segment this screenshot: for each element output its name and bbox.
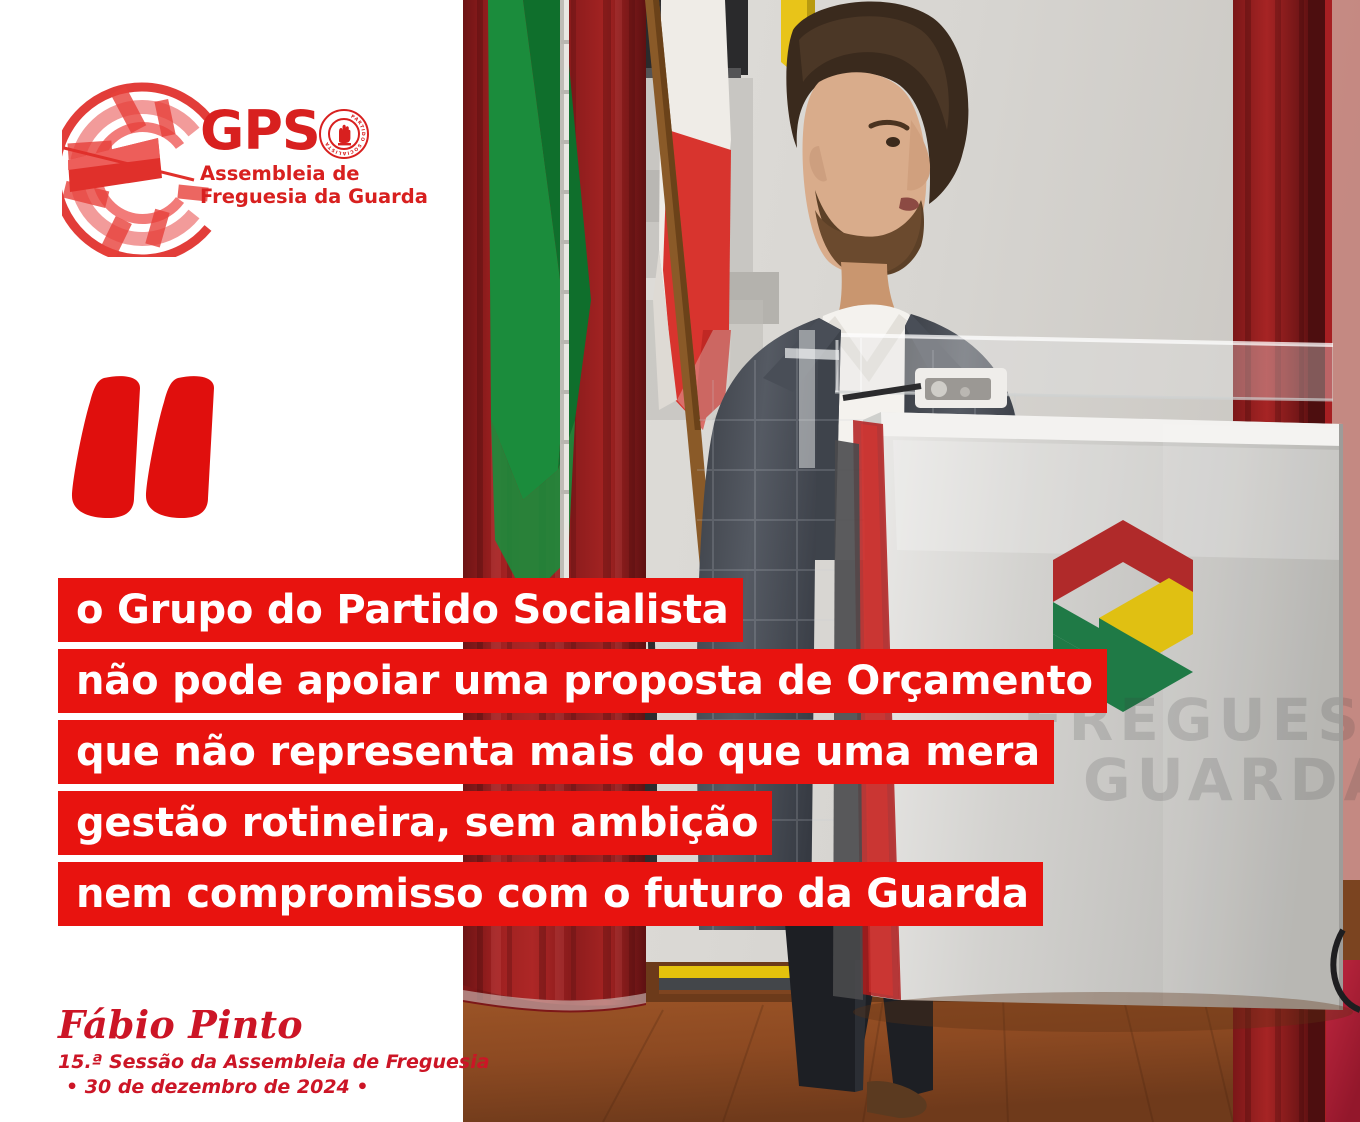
quote-line-1: o Grupo do Partido Socialista (58, 578, 743, 642)
speaker-photo: FREGUESIA GUARDA (463, 0, 1360, 1122)
gps-subtitle-line2: Freguesia da Guarda (200, 186, 385, 208)
session-label: 15.ª Sessão da Assembleia de Freguesia (58, 1050, 490, 1075)
gps-acronym: GPS (200, 104, 320, 158)
gps-logo: GPS PARTIDO SOCIALISTA Assemb (62, 82, 372, 257)
quote-line-4: gestão rotineira, sem ambição (58, 791, 772, 855)
session-date: • 30 de dezembro de 2024 • (58, 1075, 490, 1100)
open-quote-icon (60, 372, 240, 522)
attribution-block: Fábio Pinto 15.ª Sessão da Assembleia de… (58, 1003, 490, 1100)
gps-arc-mark-icon (62, 82, 222, 257)
quote-block: o Grupo do Partido Socialista não pode a… (58, 578, 1258, 933)
quote-line-5: nem compromisso com o futuro da Guarda (58, 862, 1043, 926)
quote-line-3: que não representa mais do que uma mera (58, 720, 1054, 784)
gps-subtitle-line1: Assembleia de (200, 163, 385, 185)
partido-socialista-seal-icon: PARTIDO SOCIALISTA (318, 108, 370, 160)
speaker-name: Fábio Pinto (58, 1003, 490, 1047)
gps-logo-text: GPS PARTIDO SOCIALISTA Assemb (200, 104, 385, 208)
quote-card: FREGUESIA GUARDA (0, 0, 1360, 1122)
quote-line-2: não pode apoiar uma proposta de Orçament… (58, 649, 1107, 713)
